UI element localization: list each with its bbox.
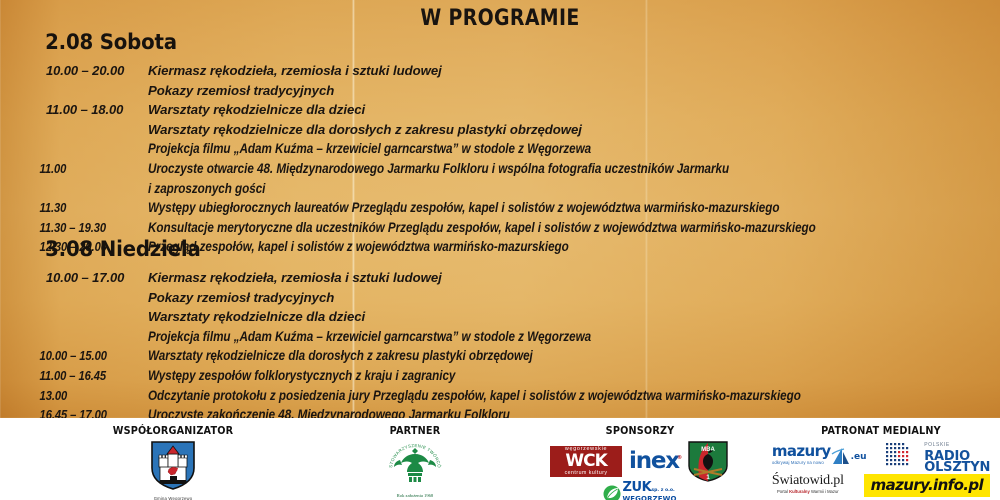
footer-col-title: SPONSORZY [552, 424, 728, 437]
footer-col-wspolorganizator: WSPÓŁORGANIZATOR [68, 418, 278, 500]
schedule-row: i zaproszonych gości [0, 181, 1000, 201]
row-desc: Kiermasz rękodzieła, rzemiosła i sztuki … [148, 270, 442, 285]
schedule-row: Projekcja filmu „Adam Kuźma – krzewiciel… [0, 141, 1000, 161]
mazury-eu-text: mazury odkrywaj Mazury na nowo [772, 445, 831, 469]
zuk-logo-text: ZUKsp. z o.o. WĘGORZEWO [622, 483, 676, 500]
footer-col-patronat: PATRONAT MEDIALNY mazury odkrywaj Mazury… [762, 418, 1000, 500]
swiatowid-tagline-c: Warmii i Mazur [810, 489, 839, 494]
mba-shield-top-text: MBA [701, 447, 715, 453]
sailboat-icon [829, 446, 851, 468]
radio-olsztyn-logo: POLSKIE RADIO OLSZTYN [886, 440, 990, 473]
swiatowid-tagline-a: Portal [777, 489, 789, 494]
swiatowid-tagline-b: Kulturalny [789, 489, 810, 494]
mazury-eu-name: mazury [772, 445, 831, 457]
shield-icon [150, 440, 196, 490]
radio-line2: OLSZTYN [924, 462, 990, 473]
row-time: 10.00 – 15.00 [0, 348, 127, 363]
zuk-logo-line2: WĘGORZEWO [622, 495, 676, 500]
row-desc: Pokazy rzemiosł tradycyjnych [148, 290, 334, 305]
row-time: 11.00 – 18.00 [0, 102, 148, 117]
row-time: 10.00 – 17.00 [0, 270, 148, 285]
schedule-row: 11.00Uroczyste otwarcie 48. Międzynarodo… [0, 161, 1000, 181]
schedule-rows: 10.00 – 17.00Kiermasz rękodzieła, rzemio… [0, 270, 1000, 427]
poster-root: W PROGRAMIE 2.08 Sobota 10.00 – 20.00Kie… [0, 0, 1000, 500]
dot-matrix-icon [886, 443, 920, 470]
zuk-wegorzewo-logo: ZUKsp. z o.o. WĘGORZEWO [603, 483, 676, 500]
stl-emblem-logo: STOWARZYSZENIE TWÓRCÓW LUDOWYCH Rok [345, 438, 485, 498]
row-desc: Warsztaty rękodzielnicze dla dzieci [148, 102, 365, 117]
schedule-row: 11.00 – 18.00Warsztaty rękodzielnicze dl… [0, 102, 1000, 122]
mba-logo: MBA 1 [686, 439, 730, 483]
row-desc: Występy zespołów folklorystycznych z kra… [148, 368, 455, 383]
row-time: 13.00 [0, 388, 127, 403]
schedule-row: 10.00 – 20.00Kiermasz rękodzieła, rzemio… [0, 63, 1000, 83]
schedule-row: 11.00 – 16.45Występy zespołów folkloryst… [0, 368, 1000, 388]
row-desc: Odczytanie protokołu z posiedzenia jury … [148, 388, 801, 403]
mazury-eu-tagline: odkrywaj Mazury na nowo [772, 457, 831, 469]
schedule-row: 10.00 – 15.00Warsztaty rękodzielnicze dl… [0, 348, 1000, 368]
mba-shield-icon: MBA 1 [686, 439, 730, 483]
inex-logo-text: inex [629, 448, 679, 474]
row-desc: i zaproszonych gości [148, 181, 265, 196]
row-desc: Występy ubiegłorocznych laureatów Przegl… [148, 200, 779, 215]
media-logo-row-1: mazury odkrywaj Mazury na nowo .eu [762, 440, 1000, 473]
swiatowid-tagline: Portal Kulturalny Warmii i Mazur [772, 486, 844, 497]
row-time: 10.00 – 20.00 [0, 63, 148, 78]
stl-emblem-caption: Rok założenia 1968 [345, 493, 485, 498]
wegorzewo-coat-of-arms-logo: Gmina Węgorzewo [68, 440, 278, 500]
leaf-icon [603, 485, 620, 500]
sponsor-logo-row-2: ZUKsp. z o.o. WĘGORZEWO [540, 483, 740, 500]
mazury-eu-suffix: .eu [851, 452, 867, 462]
row-desc: Kiermasz rękodzieła, rzemiosła i sztuki … [148, 63, 442, 78]
row-desc: Warsztaty rękodzielnicze dla dorosłych z… [148, 122, 582, 137]
schedule-row: 13.00Odczytanie protokołu z posiedzenia … [0, 388, 1000, 408]
swiatowid-name: Światowid.pl [772, 475, 844, 486]
wck-logo-bottom: centrum kultury [550, 470, 622, 476]
coat-of-arms-caption: Gmina Węgorzewo [68, 496, 278, 500]
row-time: 11.30 – 19.30 [0, 220, 127, 235]
schedule-row: Warsztaty rękodzielnicze dla dorosłych z… [0, 122, 1000, 142]
row-desc: Warsztaty rękodzielnicze dla dzieci [148, 309, 365, 324]
footer-col-partner: PARTNER STOWARZYSZENIE TWÓRCÓW LUDOWYCH [345, 418, 485, 500]
zuk-logo-line1: ZUK [622, 480, 651, 495]
footer-col-title: PARTNER [353, 424, 476, 437]
row-desc: Warsztaty rękodzielnicze dla dorosłych z… [148, 348, 533, 363]
row-time: 11.00 [0, 161, 127, 176]
row-time: 11.30 [0, 200, 127, 215]
wck-logo: węgorzewskie WCK centrum kultury [550, 446, 622, 477]
schedule-row: Pokazy rzemiosł tradycyjnych [0, 290, 1000, 310]
swiatowid-logo: Światowid.pl Portal Kulturalny Warmii i … [772, 475, 844, 497]
day-block-saturday: 2.08 Sobota 10.00 – 20.00Kiermasz rękodz… [0, 30, 1000, 259]
row-desc: Projekcja filmu „Adam Kuźma – krzewiciel… [148, 329, 591, 344]
mazury-info-pl-logo: mazury.info.pl [864, 474, 991, 497]
row-desc: Pokazy rzemiosł tradycyjnych [148, 83, 334, 98]
day-block-sunday: 3.08 Niedziela 10.00 – 17.00Kiermasz ręk… [0, 237, 1000, 427]
footer-col-title: PATRONAT MEDIALNY [776, 424, 985, 437]
row-time: 11.00 – 16.45 [0, 368, 127, 383]
zuk-logo-legal-form: sp. z o.o. [651, 488, 674, 493]
folk-artists-emblem-icon: STOWARZYSZENIE TWÓRCÓW LUDOWYCH [386, 438, 444, 488]
sponsor-logo-row: węgorzewskie WCK centrum kultury inex® M… [540, 439, 740, 483]
schedule-rows: 10.00 – 20.00Kiermasz rękodzieła, rzemio… [0, 63, 1000, 259]
schedule-row: Warsztaty rękodzielnicze dla dzieci [0, 309, 1000, 329]
inex-logo: inex® [629, 449, 679, 473]
radio-olsztyn-text: POLSKIE RADIO OLSZTYN [924, 440, 990, 473]
schedule-row: Projekcja filmu „Adam Kuźma – krzewiciel… [0, 329, 1000, 349]
day-heading: 2.08 Sobota [0, 30, 940, 54]
footer-col-title: WSPÓŁORGANIZATOR [81, 424, 266, 437]
row-desc: Projekcja filmu „Adam Kuźma – krzewiciel… [148, 141, 591, 156]
page-title: W PROGRAMIE [70, 6, 930, 31]
day-heading: 3.08 Niedziela [0, 237, 940, 261]
inex-registered-mark: ® [677, 446, 681, 470]
row-desc: Uroczyste otwarcie 48. Międzynarodowego … [148, 161, 729, 176]
media-logo-row-2: Światowid.pl Portal Kulturalny Warmii i … [762, 474, 1000, 497]
footer-logo-bar: WSPÓŁORGANIZATOR [0, 418, 1000, 500]
mazury-eu-logo: mazury odkrywaj Mazury na nowo .eu [772, 445, 867, 469]
schedule-row: 11.30Występy ubiegłorocznych laureatów P… [0, 200, 1000, 220]
row-desc: Konsultacje merytoryczne dla uczestników… [148, 220, 816, 235]
schedule-row: Pokazy rzemiosł tradycyjnych [0, 83, 1000, 103]
footer-col-sponsorzy: SPONSORZY węgorzewskie WCK centrum kultu… [540, 418, 740, 500]
schedule-row: 10.00 – 17.00Kiermasz rękodzieła, rzemio… [0, 270, 1000, 290]
wck-logo-mid: WCK [550, 452, 622, 470]
